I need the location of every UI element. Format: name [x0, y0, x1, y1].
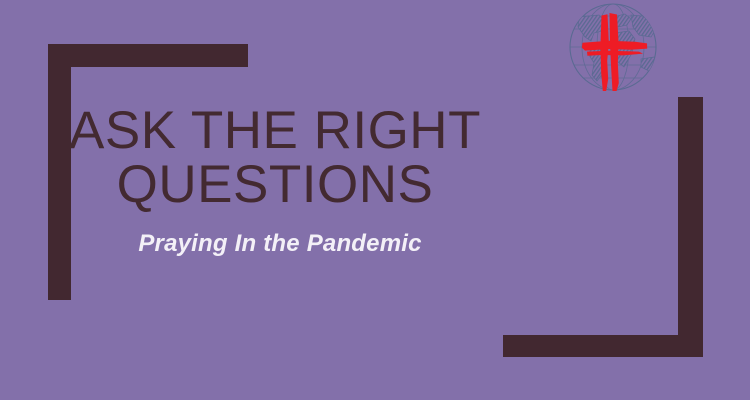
globe-cross-logo — [561, 3, 665, 91]
headline-block: ASK THE RIGHT QUESTIONS Praying In the P… — [0, 104, 750, 258]
poster-canvas: ASK THE RIGHT QUESTIONS Praying In the P… — [0, 0, 750, 400]
bracket-horizontal-arm — [503, 335, 703, 357]
bracket-horizontal-arm — [48, 44, 248, 67]
page-subtitle: Praying In the Pandemic — [0, 230, 750, 258]
page-title: ASK THE RIGHT QUESTIONS — [0, 104, 750, 212]
